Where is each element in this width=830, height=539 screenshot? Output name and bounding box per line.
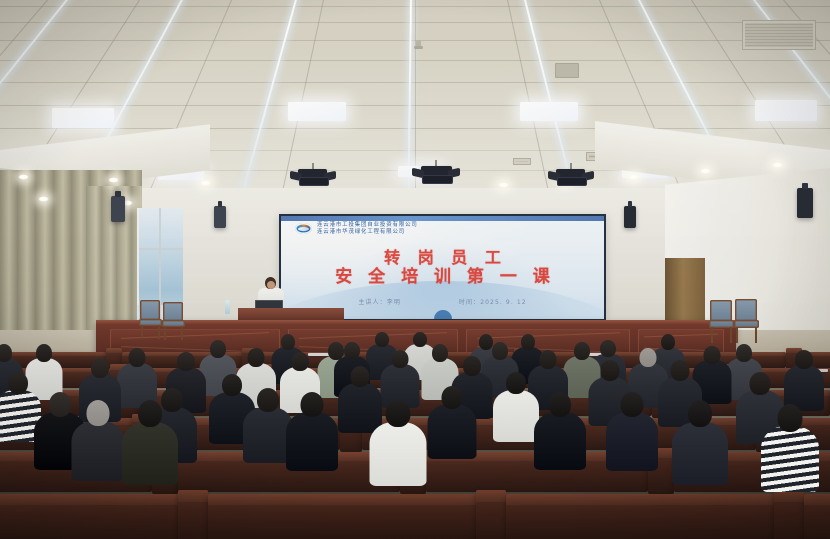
- audience-head: [375, 332, 389, 347]
- slide-circle-decoration: [434, 310, 452, 319]
- bench-row: [506, 494, 774, 539]
- sprinkler-head: [416, 40, 421, 49]
- audience-head: [795, 350, 813, 369]
- audience-head: [601, 360, 620, 381]
- audience-head: [177, 352, 195, 371]
- audience-member: [428, 386, 477, 464]
- slide-title-line-1: 转 岗 员 工: [281, 248, 604, 267]
- projection-screen: 连云港市工投集团自业投资有限公司 连云港市华茂绿化工程有限公司 转 岗 员 工 …: [281, 216, 604, 319]
- slide-company-header: 连云港市工投集团自业投资有限公司 连云港市华茂绿化工程有限公司: [295, 222, 418, 235]
- recessed-downlight: [628, 174, 639, 180]
- bench-row: [804, 494, 830, 539]
- ceiling-grid-line: [0, 82, 830, 83]
- audience-head: [281, 334, 295, 350]
- slide-presenter-label: 主讲人：李明: [358, 297, 401, 306]
- ceiling-panel-light: [288, 102, 346, 121]
- recessed-downlight: [200, 180, 211, 186]
- audience-head: [521, 334, 535, 350]
- audience-head: [291, 352, 309, 371]
- recessed-downlight: [772, 162, 783, 168]
- audience-head: [442, 386, 463, 409]
- audience-head: [386, 400, 411, 427]
- linear-led-strip: [407, 0, 412, 215]
- audience-member: [286, 392, 338, 476]
- wall-mounted-speaker: [624, 206, 636, 228]
- audience-head: [506, 372, 526, 394]
- audience-member: [761, 404, 819, 498]
- audience-head: [600, 340, 616, 357]
- audience-torso: [286, 412, 338, 471]
- audience-torso: [428, 404, 477, 459]
- ceiling-grid-line: [0, 40, 830, 41]
- audience-member: [672, 400, 728, 490]
- audience-member: [72, 400, 125, 486]
- audience-head: [574, 342, 590, 360]
- audience-member: [606, 392, 658, 476]
- ceiling-access-panel: [555, 63, 579, 78]
- audience-head: [549, 392, 571, 417]
- audience-head: [49, 392, 71, 417]
- audience-head: [492, 342, 508, 360]
- audience-head: [621, 392, 644, 417]
- audience-head: [344, 342, 360, 359]
- audience-head: [257, 388, 279, 412]
- slide-top-accent-bar: [281, 216, 604, 221]
- audience-head: [704, 346, 721, 364]
- ceiling-grid-line: [0, 6, 830, 7]
- audience-head: [8, 372, 28, 394]
- ceiling-hung-speaker-cluster: [290, 163, 336, 195]
- recessed-downlight: [38, 196, 49, 202]
- recessed-downlight: [108, 177, 119, 183]
- audience-head: [87, 400, 110, 426]
- audience-torso: [122, 422, 178, 485]
- audience-head: [138, 400, 162, 427]
- audience-member: [534, 392, 586, 475]
- audience-head: [301, 392, 324, 417]
- bench-divider: [178, 490, 208, 539]
- ceiling-panel-light: [755, 100, 817, 121]
- audience-member: [370, 400, 427, 491]
- audience-head: [222, 374, 242, 396]
- recessed-downlight: [498, 182, 509, 188]
- ac-diffuser-vent: [513, 158, 531, 165]
- company-line-1: 连云港市工投集团自业投资有限公司: [317, 222, 418, 228]
- audience-head: [129, 348, 146, 367]
- wall-mounted-speaker: [797, 188, 813, 218]
- bench-row: [208, 494, 476, 539]
- audience-head: [778, 404, 803, 432]
- water-bottle: [225, 300, 230, 314]
- audience-head: [540, 350, 557, 369]
- wall-mounted-speaker: [214, 206, 226, 228]
- audience-head: [671, 360, 690, 381]
- audience-head: [351, 366, 370, 387]
- audience-head: [736, 344, 752, 362]
- ac-diffuser-vent: [742, 20, 816, 50]
- audience-torso: [534, 412, 586, 470]
- audience-head: [432, 344, 448, 362]
- audience-torso: [672, 422, 728, 485]
- audience-head: [463, 356, 481, 376]
- ceiling-hung-speaker-cluster: [548, 163, 594, 195]
- wall-mounted-speaker: [111, 196, 125, 222]
- bench-divider: [476, 490, 506, 539]
- bench-row: [0, 494, 178, 539]
- lecture-hall-photo: 连云港市工投集团自业投资有限公司 连云港市华茂绿化工程有限公司 转 岗 员 工 …: [0, 0, 830, 539]
- audience-torso: [493, 390, 539, 442]
- audience-head: [688, 400, 712, 427]
- audience-head: [248, 348, 265, 367]
- slide-date-label: 时间：2025. 9. 12: [459, 297, 527, 306]
- presenter-face: [267, 281, 275, 289]
- audience-head: [210, 340, 226, 358]
- audience-head: [640, 348, 657, 367]
- audience-torso: [72, 421, 125, 481]
- company-line-2: 连云港市华茂绿化工程有限公司: [317, 229, 418, 235]
- slide-title-line-2: 安 全 培 训 第 一 课: [281, 267, 604, 288]
- recessed-downlight: [18, 174, 29, 180]
- audience-head: [392, 350, 409, 368]
- projection-screen-frame: 连云港市工投集团自业投资有限公司 连云港市华茂绿化工程有限公司 转 岗 员 工 …: [279, 214, 606, 321]
- ceiling-panel-light: [520, 102, 578, 121]
- ceiling-grid-line: [0, 22, 830, 23]
- audience-member: [493, 372, 539, 446]
- audience-torso: [370, 422, 427, 486]
- audience-torso: [761, 426, 819, 492]
- ceiling-grid-line: [0, 60, 830, 61]
- slide-title: 转 岗 员 工 安 全 培 训 第 一 课: [281, 248, 604, 288]
- slide-meta-row: 主讲人：李明 时间：2025. 9. 12: [281, 297, 604, 306]
- ceiling-hung-speaker-cluster: [412, 160, 460, 193]
- audience-member: [122, 400, 178, 490]
- audience-torso: [606, 412, 658, 471]
- ceiling-panel-light: [52, 108, 114, 128]
- audience-head: [750, 372, 771, 395]
- audience-head: [36, 344, 52, 362]
- audience-head: [91, 358, 109, 378]
- rostrum-top-edge: [96, 320, 736, 325]
- company-swoosh-logo: [295, 223, 312, 234]
- recessed-downlight: [700, 168, 711, 174]
